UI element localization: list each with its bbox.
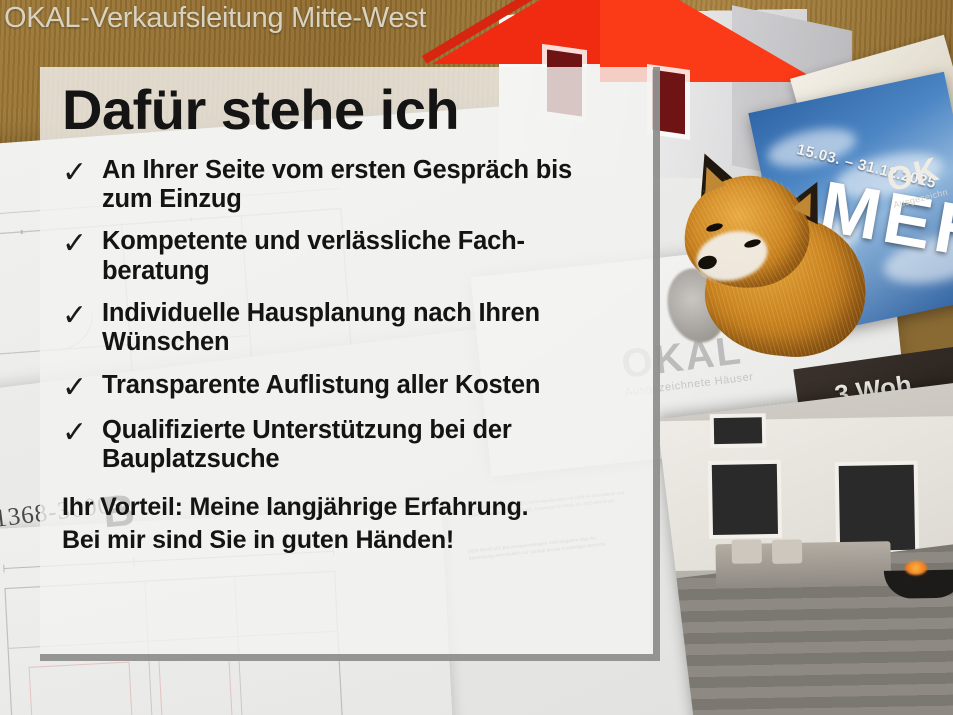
check-icon: ✓ xyxy=(62,418,88,448)
list-item: ✓ Qualifizierte Unterstützung bei der Ba… xyxy=(62,416,627,475)
closing-line-2: Bei mir sind Sie in guten Händen! xyxy=(62,524,627,557)
terrace-upper-window xyxy=(714,417,762,444)
page-title: OKAL-Verkaufsleitung Mitte-West xyxy=(4,2,426,35)
list-item: ✓ Individuelle Hausplanung nach Ihren Wü… xyxy=(62,299,627,358)
check-icon: ✓ xyxy=(62,158,88,188)
list-item-label: Transparente Auflistung aller Kosten xyxy=(102,371,540,400)
benefits-list: ✓ An Ihrer Seite vom ersten Gespräch bis… xyxy=(62,156,627,475)
terrace-cushion-1 xyxy=(732,539,762,564)
check-icon: ✓ xyxy=(62,373,88,403)
list-item-label: Individuelle Hausplanung nach Ihren Wüns… xyxy=(102,299,627,358)
list-item-label: Qualifizierte Unterstützung bei der Baup… xyxy=(102,416,627,475)
terrace-cushion-2 xyxy=(772,539,802,564)
list-item: ✓ An Ihrer Seite vom ersten Gespräch bis… xyxy=(62,156,627,215)
panel-heading: Dafür stehe ich xyxy=(62,81,627,140)
terrace-window-right xyxy=(839,465,915,551)
list-item: ✓ Transparente Auflistung aller Kosten xyxy=(62,371,627,403)
screenshot-root: 1368-30009 B OKAL Ausgezeichnete Häuser … xyxy=(0,0,953,715)
content-panel: Dafür stehe ich ✓ An Ihrer Seite vom ers… xyxy=(40,67,660,661)
terrace-photo xyxy=(657,383,953,715)
list-item-label: An Ihrer Seite vom ersten Gespräch bis z… xyxy=(102,156,627,215)
check-icon: ✓ xyxy=(62,301,88,331)
closing-line-1: Ihr Vorteil: Meine langjährige Erfahrung… xyxy=(62,491,627,524)
list-item-label: Kompetente und verlässliche Fach-beratun… xyxy=(102,227,627,286)
fox-figurine xyxy=(668,148,883,378)
terrace-window-left xyxy=(712,464,778,535)
closing-statement: Ihr Vorteil: Meine langjährige Erfahrung… xyxy=(62,491,627,557)
list-item: ✓ Kompetente und verlässliche Fach-berat… xyxy=(62,227,627,286)
check-icon: ✓ xyxy=(62,229,88,259)
